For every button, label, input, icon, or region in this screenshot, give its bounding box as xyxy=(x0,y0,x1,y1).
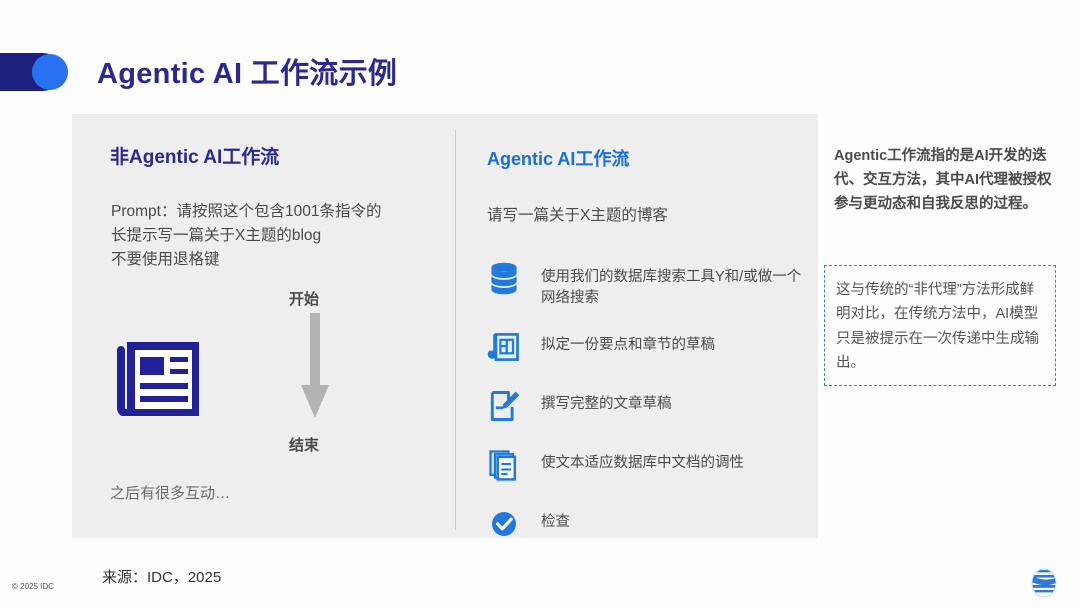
list-item-label: 使用我们的数据库搜索工具Y和/或做一个网络搜索 xyxy=(541,258,811,309)
database-icon xyxy=(483,258,525,300)
agentic-step-list: 使用我们的数据库搜索工具Y和/或做一个网络搜索 拟定一份要点和章节的草稿 撰写完… xyxy=(483,258,813,562)
page-title: Agentic AI 工作流示例 xyxy=(97,50,397,92)
prompt-line-2: 长提示写一篇关于X主题的blog xyxy=(111,224,451,248)
list-item[interactable]: 检查 xyxy=(483,503,813,545)
left-column-prompt: Prompt：请按照这个包含1001条指令的 长提示写一篇关于X主题的blog … xyxy=(111,200,451,272)
prompt-line-3: 不要使用退格键 xyxy=(111,248,451,272)
middle-column-heading: Agentic AI工作流 xyxy=(487,145,629,171)
list-item[interactable]: 使用我们的数据库搜索工具Y和/或做一个网络搜索 xyxy=(483,258,813,309)
document-stack-icon xyxy=(483,444,525,486)
flow-end-label: 结束 xyxy=(289,434,319,455)
flow-start-label: 开始 xyxy=(289,288,319,309)
list-item[interactable]: 使文本适应数据库中文档的调性 xyxy=(483,444,813,486)
newspaper-icon xyxy=(107,340,199,416)
source-note: 来源：IDC，2025 xyxy=(102,566,221,587)
down-arrow-icon xyxy=(300,313,330,420)
right-column-note-box: 这与传统的“非代理”方法形成鲜明对比，在传统方法中，AI模型只是被提示在一次传递… xyxy=(824,265,1056,386)
list-item-label: 撰写完整的文章草稿 xyxy=(541,385,811,415)
middle-column-prompt: 请写一篇关于X主题的博客 xyxy=(487,203,668,225)
title-badge-circle-icon xyxy=(32,54,68,90)
idc-globe-logo xyxy=(1026,566,1062,600)
left-column-footnote: 之后有很多互动… xyxy=(110,482,230,503)
list-item[interactable]: 拟定一份要点和章节的草稿 xyxy=(483,326,813,368)
list-item[interactable]: 撰写完整的文章草稿 xyxy=(483,385,813,427)
column-divider xyxy=(455,130,456,530)
list-item-label: 检查 xyxy=(541,503,811,533)
check-circle-icon xyxy=(483,503,525,545)
edit-document-icon xyxy=(483,385,525,427)
prompt-line-1: Prompt：请按照这个包含1001条指令的 xyxy=(111,200,451,224)
blueprint-icon xyxy=(483,326,525,368)
list-item-label: 拟定一份要点和章节的草稿 xyxy=(541,326,811,356)
copyright-label: © 2025 IDC xyxy=(12,582,54,591)
left-column-heading: 非Agentic AI工作流 xyxy=(110,142,279,169)
right-column-lead-text: Agentic工作流指的是AI开发的迭代、交互方法，其中AI代理被授权参与更动态… xyxy=(834,145,1062,217)
list-item-label: 使文本适应数据库中文档的调性 xyxy=(541,444,811,474)
